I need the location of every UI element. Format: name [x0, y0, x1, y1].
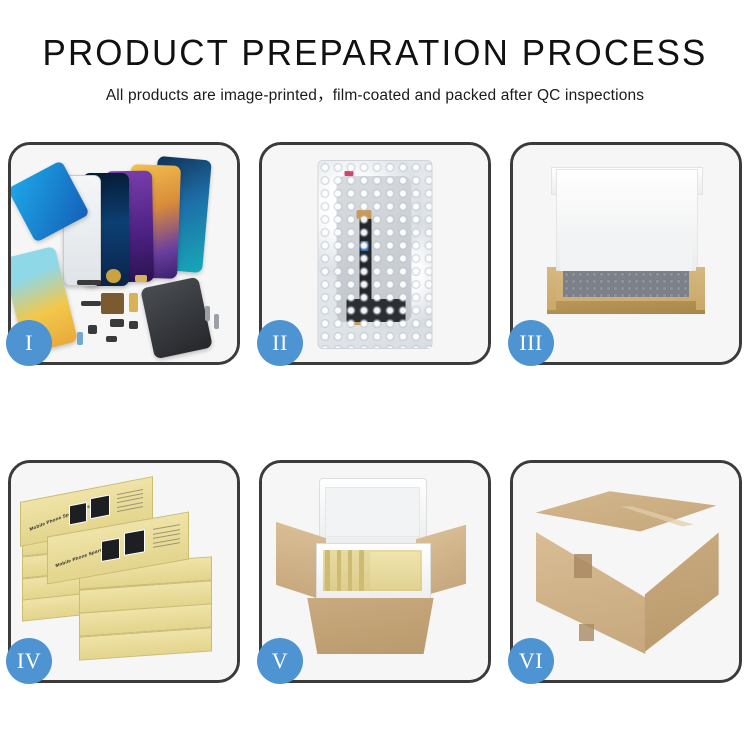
page-subtitle: All products are image-printed，film-coat… — [0, 83, 750, 105]
step-panel-3[interactable]: III — [510, 142, 742, 365]
page-title: PRODUCT PREPARATION PROCESS — [11, 34, 739, 72]
process-steps-grid: I II — [8, 142, 742, 683]
step-badge-3: III — [508, 320, 554, 366]
step-badge-1: I — [6, 320, 52, 366]
step-panel-2[interactable]: II — [259, 142, 491, 365]
step-panel-1[interactable]: I — [8, 142, 240, 365]
step-panel-4[interactable]: Mobile Phone Spare Parts Mobile Phone Sp… — [8, 460, 240, 683]
step-badge-4: IV — [6, 638, 52, 684]
step-panel-5[interactable]: V — [259, 460, 491, 683]
step-badge-5: V — [257, 638, 303, 684]
step-badge-6: VI — [508, 638, 554, 684]
page-header: PRODUCT PREPARATION PROCESS All products… — [0, 0, 750, 105]
step-badge-2: II — [257, 320, 303, 366]
step-panel-6[interactable]: VI — [510, 460, 742, 683]
